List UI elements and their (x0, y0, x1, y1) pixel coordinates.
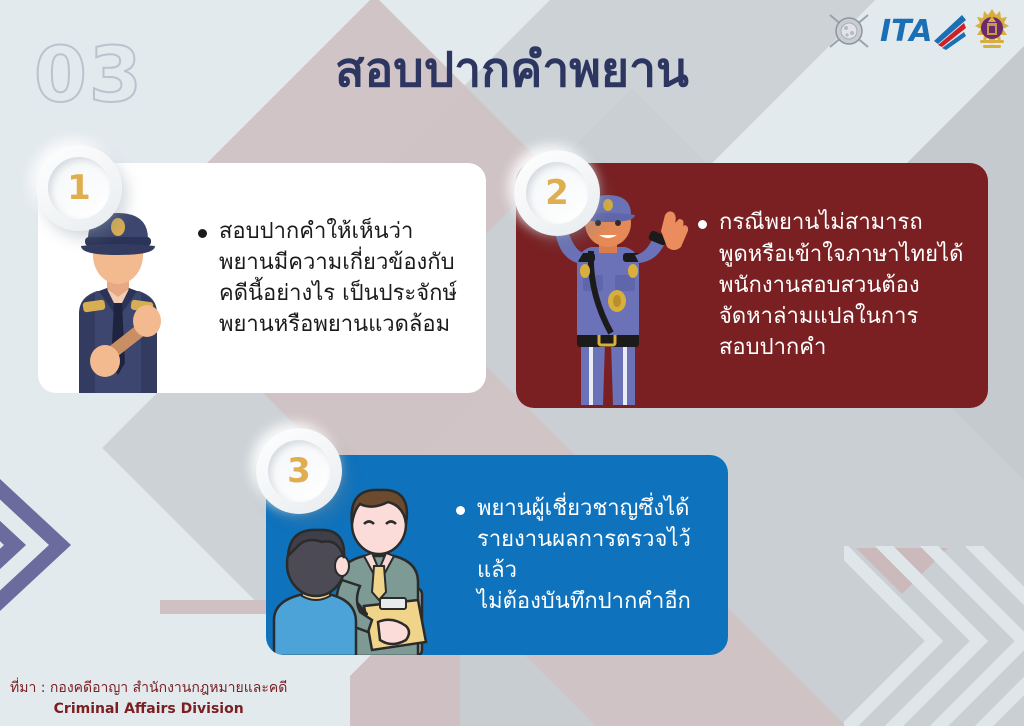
logo-group: ITA (826, 6, 1010, 56)
card-1-text: สอบปากคำให้เห็นว่า พยานมีความเกี่ยวข้องก… (219, 216, 457, 341)
step-badge-2: 2 (514, 150, 600, 236)
step-badge-2-number: 2 (545, 176, 569, 210)
card-3-text: พยานผู้เชี่ยวชาญซึ่งได้ รายงานผลการตรวจไ… (477, 493, 712, 618)
card-3-bullet-icon (456, 506, 465, 515)
footer-source-thai: ที่มา : กองคดีอาญา สำนักงานกฎหมายและคดี (10, 678, 287, 699)
chevron-arrows-purple-icon (0, 400, 160, 690)
ita-logo-icon: ITA (880, 11, 966, 51)
svg-text:ITA: ITA (880, 14, 933, 49)
card-1-bullet-icon (198, 229, 207, 238)
card-2-body: กรณีพยานไม่สามารถ พูดหรือเข้าใจภาษาไทยได… (698, 207, 988, 363)
footer-source-english: Criminal Affairs Division (10, 699, 287, 720)
rose-triangle-accent (856, 548, 948, 594)
slide-root: 03 สอบปากคำพยาน ITA (0, 0, 1024, 726)
step-badge-1: 1 (36, 145, 122, 231)
card-3-body: พยานผู้เชี่ยวชาญซึ่งได้ รายงานผลการตรวจไ… (456, 493, 728, 618)
card-2-text: กรณีพยานไม่สามารถ พูดหรือเข้าใจภาษาไทยได… (719, 207, 963, 363)
step-badge-3-number: 3 (287, 454, 311, 488)
police-badge-emblem-icon (826, 9, 872, 53)
card-1-body: สอบปากคำให้เห็นว่า พยานมีความเกี่ยวข้องก… (198, 216, 486, 341)
royal-emblem-icon (974, 8, 1010, 54)
step-badge-1-number: 1 (67, 171, 91, 205)
step-badge-3: 3 (256, 428, 342, 514)
card-2-bullet-icon (698, 220, 707, 229)
footer-source: ที่มา : กองคดีอาญา สำนักงานกฎหมายและคดี … (10, 678, 287, 720)
chevron-arrows-grey-icon (844, 546, 1024, 726)
